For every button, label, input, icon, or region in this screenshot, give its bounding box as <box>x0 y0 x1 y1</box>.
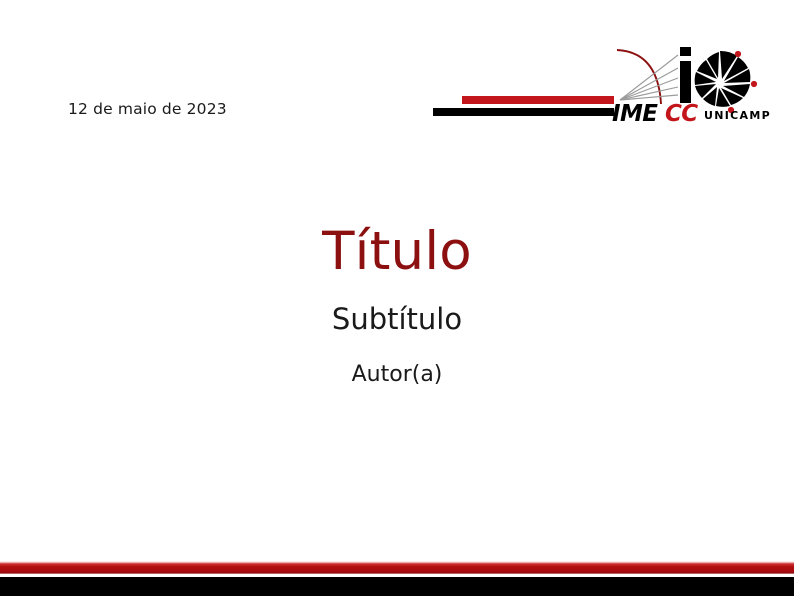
logo-i-dot-icon <box>680 47 691 56</box>
title-block: Título Subtítulo Autor(a) <box>0 224 794 386</box>
unicamp-gear-icon <box>695 51 757 113</box>
logo-wordmark-ime: IME <box>612 101 658 124</box>
logo-i-stem-icon <box>680 61 691 103</box>
page-subtitle: Subtítulo <box>0 304 794 334</box>
slide-date: 12 de maio de 2023 <box>68 100 227 118</box>
logo-rays-icon <box>620 55 678 100</box>
footer-rule-black <box>0 577 794 596</box>
beamer-title-slide: 12 de maio de 2023 <box>0 0 794 596</box>
logo-wordmark-cc: CC <box>665 101 698 124</box>
unicamp-dot-icon <box>735 51 741 57</box>
header-rule-black <box>433 108 614 116</box>
imecc-unicamp-logo-icon: IME CC UNICAMP <box>612 42 770 124</box>
page-author: Autor(a) <box>0 363 794 386</box>
header-rule-red <box>462 96 614 104</box>
unicamp-dot-icon <box>751 81 757 87</box>
imecc-unicamp-logo: IME CC UNICAMP <box>612 42 770 124</box>
footer-rule-red <box>0 561 794 574</box>
logo-wordmark-unicamp: UNICAMP <box>704 109 770 122</box>
page-title: Título <box>0 224 794 280</box>
